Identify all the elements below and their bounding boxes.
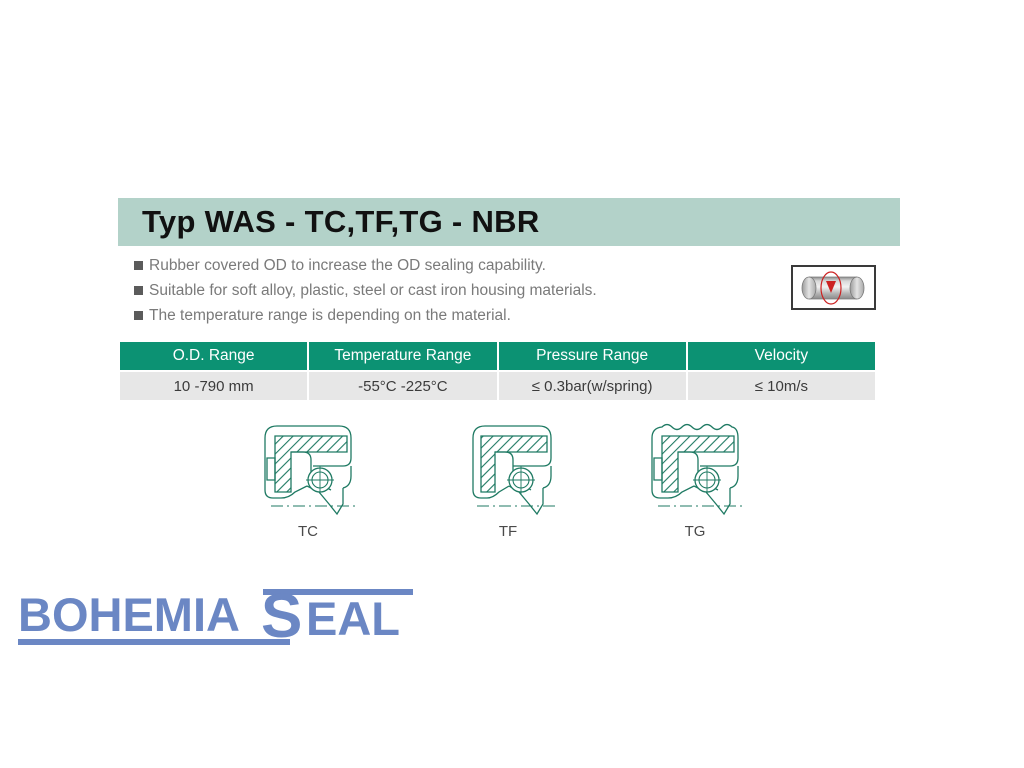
diagram-caption: TF	[428, 523, 588, 540]
tf-cross-section-icon	[451, 418, 566, 521]
table-header-row: O.D. Range Temperature Range Pressure Ra…	[120, 342, 875, 370]
tc-cross-section-icon	[251, 418, 366, 521]
list-item: Suitable for soft alloy, plastic, steel …	[134, 280, 734, 303]
feature-text: Rubber covered OD to increase the OD sea…	[149, 255, 546, 276]
list-item: Rubber covered OD to increase the OD sea…	[134, 255, 734, 278]
square-bullet-icon	[134, 311, 143, 320]
logo-text-bohemia: BOHEMIA	[18, 588, 240, 641]
cell-pressure-range: ≤ 0.3bar(w/spring)	[499, 372, 686, 400]
logo-text-eal: EAL	[306, 592, 400, 645]
column-header-pressure-range: Pressure Range	[499, 342, 686, 370]
cell-temperature-range: -55°C -225°C	[309, 372, 496, 400]
logo-underline	[18, 639, 290, 645]
square-bullet-icon	[134, 261, 143, 270]
column-header-temperature-range: Temperature Range	[309, 342, 496, 370]
logo-text-s: S	[261, 585, 302, 647]
diagram-caption: TG	[615, 523, 775, 540]
square-bullet-icon	[134, 286, 143, 295]
seal-diagram-tg: TG	[615, 418, 775, 540]
tg-cross-section-icon	[638, 418, 753, 521]
feature-text: Suitable for soft alloy, plastic, steel …	[149, 280, 597, 301]
feature-list: Rubber covered OD to increase the OD sea…	[134, 255, 734, 330]
diagram-caption: TC	[228, 523, 388, 540]
column-header-od-range: O.D. Range	[120, 342, 307, 370]
bohemia-seal-logo: BOHEMIA S EAL	[18, 585, 418, 647]
seal-diagram-group: TC	[118, 418, 878, 553]
product-title-band: Typ WAS - TC,TF,TG - NBR	[118, 198, 900, 246]
specification-table: O.D. Range Temperature Range Pressure Ra…	[118, 340, 877, 402]
cell-od-range: 10 -790 mm	[120, 372, 307, 400]
seal-diagram-tf: TF	[428, 418, 588, 540]
cell-velocity: ≤ 10m/s	[688, 372, 875, 400]
feature-text: The temperature range is depending on th…	[149, 305, 511, 326]
column-header-velocity: Velocity	[688, 342, 875, 370]
rotating-shaft-icon	[791, 265, 876, 310]
seal-diagram-tc: TC	[228, 418, 388, 540]
list-item: The temperature range is depending on th…	[134, 305, 734, 328]
page-title: Typ WAS - TC,TF,TG - NBR	[142, 204, 540, 240]
table-row: 10 -790 mm -55°C -225°C ≤ 0.3bar(w/sprin…	[120, 372, 875, 400]
